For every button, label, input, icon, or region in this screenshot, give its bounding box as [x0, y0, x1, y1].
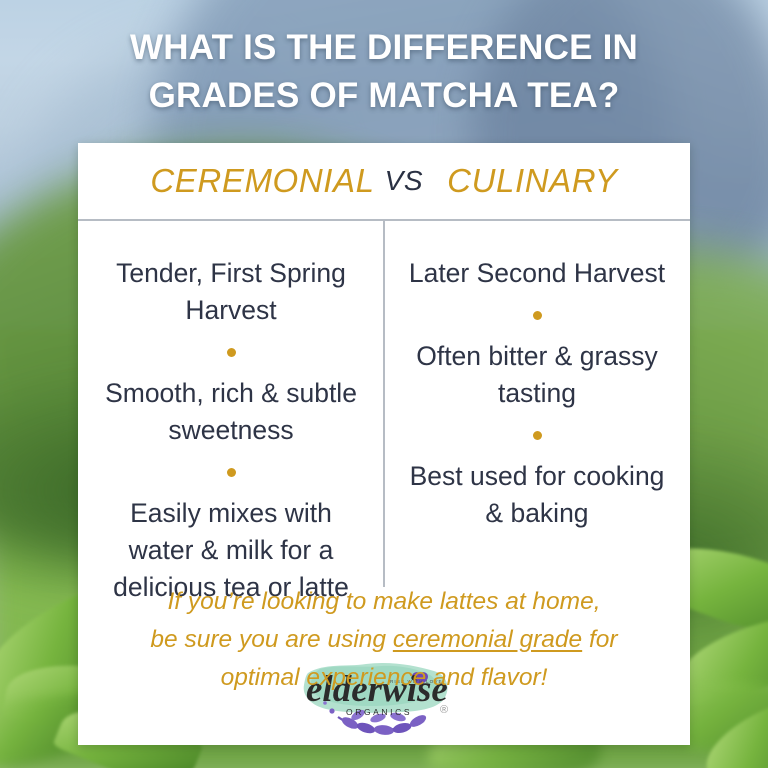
infographic-page: WHAT IS THE DIFFERENCE IN GRADES OF MATC… [0, 0, 768, 768]
page-title-line-1: WHAT IS THE DIFFERENCE IN [0, 24, 768, 72]
comparison-header: CEREMONIAL VS CULINARY [78, 143, 690, 221]
list-item: Smooth, rich & subtle sweetness [97, 375, 365, 449]
footer-note-emphasis: ceremonial grade [393, 626, 582, 653]
footer-note-line-1: If you’re looking to make lattes at home… [102, 583, 666, 621]
culinary-items: Later Second Harvest Often bitter & gras… [384, 255, 690, 532]
bullet-dot-icon [227, 468, 236, 477]
column-header-culinary: CULINARY [447, 162, 617, 200]
bullet-dot-icon [533, 431, 542, 440]
logo-leaf [356, 721, 377, 736]
list-item: Often bitter & grassy tasting [401, 338, 673, 412]
column-header-vs: VS [375, 165, 430, 197]
comparison-card: CEREMONIAL VS CULINARY Tender, First Spr… [78, 143, 690, 745]
logo-leaf [392, 721, 413, 735]
column-header-ceremonial: CEREMONIAL [150, 162, 374, 200]
logo-subtitle: ORGANICS [346, 707, 412, 717]
bullet-dot-icon [533, 311, 542, 320]
footer-note-before: be sure you are using [150, 626, 392, 653]
footer-note: If you’re looking to make lattes at home… [78, 583, 690, 697]
page-title: WHAT IS THE DIFFERENCE IN GRADES OF MATC… [0, 24, 768, 120]
list-item: Best used for cooking & baking [401, 458, 673, 532]
list-item: Later Second Harvest [401, 255, 673, 292]
footer-note-line-2: be sure you are using ceremonial grade f… [102, 621, 666, 659]
comparison-body: Tender, First Spring Harvest Smooth, ric… [78, 221, 690, 747]
bullet-dot-icon [227, 348, 236, 357]
logo-leaf [374, 724, 395, 736]
footer-note-after: for [582, 626, 617, 653]
ceremonial-items: Tender, First Spring Harvest Smooth, ric… [78, 255, 384, 606]
page-title-line-2: GRADES OF MATCHA TEA? [0, 72, 768, 120]
logo-trademark-icon: ® [440, 704, 448, 716]
footer-note-line-3: optimal experience and flavor! [102, 659, 666, 697]
list-item: Tender, First Spring Harvest [97, 255, 365, 329]
